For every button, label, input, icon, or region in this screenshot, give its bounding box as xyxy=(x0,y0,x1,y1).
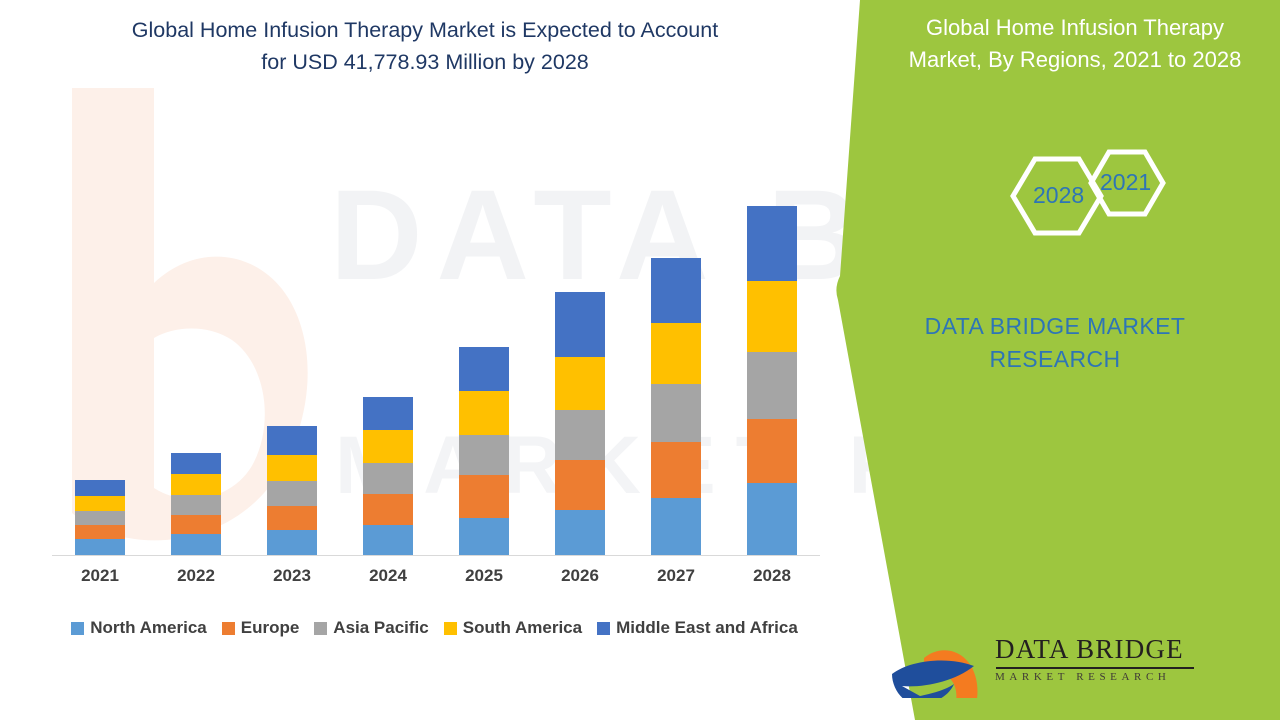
brand-panel-title: Global Home Infusion Therapy Market, By … xyxy=(880,12,1270,76)
legend-item-north-america[interactable]: North America xyxy=(71,618,207,638)
bar-2026[interactable] xyxy=(555,292,605,555)
bar-segment-2023-south-america[interactable] xyxy=(267,455,317,481)
legend-label: North America xyxy=(90,618,207,638)
legend-label: Middle East and Africa xyxy=(616,618,798,638)
bar-segment-2026-north-america[interactable] xyxy=(555,510,605,555)
company-logo: DATA BRIDGE MARKET RESEARCH xyxy=(890,628,1180,700)
legend-label: South America xyxy=(463,618,582,638)
legend-item-south-america[interactable]: South America xyxy=(444,618,582,638)
x-axis-label-2027: 2027 xyxy=(636,566,716,586)
bar-segment-2028-middle-east-and-africa[interactable] xyxy=(747,206,797,281)
bar-segment-2024-europe[interactable] xyxy=(363,494,413,525)
x-axis-label-2022: 2022 xyxy=(156,566,236,586)
bar-segment-2024-middle-east-and-africa[interactable] xyxy=(363,397,413,430)
bar-segment-2023-europe[interactable] xyxy=(267,506,317,530)
bar-segment-2026-europe[interactable] xyxy=(555,460,605,510)
bar-segment-2027-europe[interactable] xyxy=(651,442,701,498)
bar-segment-2022-north-america[interactable] xyxy=(171,534,221,555)
x-axis-labels: 20212022202320242025202620272028 xyxy=(52,566,820,594)
bar-segment-2023-asia-pacific[interactable] xyxy=(267,481,317,506)
bar-segment-2027-asia-pacific[interactable] xyxy=(651,384,701,442)
bar-segment-2023-middle-east-and-africa[interactable] xyxy=(267,426,317,455)
bar-segment-2025-asia-pacific[interactable] xyxy=(459,435,509,475)
bar-segment-2028-europe[interactable] xyxy=(747,419,797,483)
bar-segment-2025-north-america[interactable] xyxy=(459,518,509,555)
legend-swatch-icon xyxy=(222,622,235,635)
bar-segment-2024-asia-pacific[interactable] xyxy=(363,463,413,494)
bar-segment-2026-middle-east-and-africa[interactable] xyxy=(555,292,605,357)
brand-panel: Global Home Infusion Therapy Market, By … xyxy=(820,0,1280,720)
bar-segment-2028-asia-pacific[interactable] xyxy=(747,352,797,419)
bar-segment-2022-middle-east-and-africa[interactable] xyxy=(171,453,221,474)
bar-2021[interactable] xyxy=(75,480,125,555)
hexagon-shapes xyxy=(975,140,1195,270)
bar-segment-2021-north-america[interactable] xyxy=(75,539,125,555)
bar-2023[interactable] xyxy=(267,426,317,555)
bar-2028[interactable] xyxy=(747,206,797,555)
legend-swatch-icon xyxy=(314,622,327,635)
screenshot-root: DATA BRIDGE MARKET RESEARCH Global Home … xyxy=(0,0,1280,720)
x-axis-label-2023: 2023 xyxy=(252,566,332,586)
legend-label: Asia Pacific xyxy=(333,618,428,638)
legend-swatch-icon xyxy=(444,622,457,635)
hexagon-label-2028: 2028 xyxy=(1033,182,1084,209)
page-title: Global Home Infusion Therapy Market is E… xyxy=(40,14,810,79)
bar-segment-2026-asia-pacific[interactable] xyxy=(555,410,605,460)
bar-segment-2028-north-america[interactable] xyxy=(747,483,797,555)
legend-item-europe[interactable]: Europe xyxy=(222,618,300,638)
bar-segment-2022-europe[interactable] xyxy=(171,515,221,534)
bar-segment-2027-north-america[interactable] xyxy=(651,498,701,555)
brand-name: DATA BRIDGE MARKET RESEARCH xyxy=(860,310,1250,375)
bar-segment-2022-south-america[interactable] xyxy=(171,474,221,495)
bar-segment-2023-north-america[interactable] xyxy=(267,530,317,555)
stacked-bar-chart xyxy=(52,100,820,556)
legend-label: Europe xyxy=(241,618,300,638)
bar-segment-2027-south-america[interactable] xyxy=(651,323,701,384)
x-axis-label-2026: 2026 xyxy=(540,566,620,586)
brand-name-line2: RESEARCH xyxy=(989,346,1120,372)
hexagon-label-2021: 2021 xyxy=(1100,169,1151,196)
brand-name-line1: DATA BRIDGE MARKET xyxy=(925,313,1186,339)
chart-plot-area xyxy=(52,100,820,556)
bar-segment-2027-middle-east-and-africa[interactable] xyxy=(651,258,701,323)
legend-item-asia-pacific[interactable]: Asia Pacific xyxy=(314,618,428,638)
chart-legend: North AmericaEuropeAsia PacificSouth Ame… xyxy=(52,616,832,640)
bar-2024[interactable] xyxy=(363,397,413,555)
bar-segment-2021-asia-pacific[interactable] xyxy=(75,511,125,525)
logo-divider xyxy=(996,667,1194,669)
bar-2022[interactable] xyxy=(171,453,221,555)
bar-segment-2026-south-america[interactable] xyxy=(555,357,605,410)
logo-main-text: DATA BRIDGE xyxy=(995,634,1194,665)
bar-2025[interactable] xyxy=(459,347,509,555)
page-title-line1: Global Home Infusion Therapy Market is E… xyxy=(132,18,718,42)
bar-segment-2021-europe[interactable] xyxy=(75,525,125,539)
legend-item-middle-east-and-africa[interactable]: Middle East and Africa xyxy=(597,618,798,638)
legend-swatch-icon xyxy=(597,622,610,635)
logo-mark-icon xyxy=(890,628,985,698)
x-axis-label-2028: 2028 xyxy=(732,566,812,586)
bar-segment-2024-north-america[interactable] xyxy=(363,525,413,555)
bar-segment-2021-middle-east-and-africa[interactable] xyxy=(75,480,125,496)
x-axis-label-2025: 2025 xyxy=(444,566,524,586)
x-axis-label-2024: 2024 xyxy=(348,566,428,586)
x-axis-label-2021: 2021 xyxy=(60,566,140,586)
bar-segment-2025-europe[interactable] xyxy=(459,475,509,518)
x-axis-line xyxy=(52,555,820,556)
logo-sub-text: MARKET RESEARCH xyxy=(995,671,1194,683)
page-title-line2: for USD 41,778.93 Million by 2028 xyxy=(261,50,588,74)
bar-segment-2025-south-america[interactable] xyxy=(459,391,509,435)
brand-panel-title-line2: Market, By Regions, 2021 to 2028 xyxy=(909,47,1242,72)
bar-segment-2028-south-america[interactable] xyxy=(747,281,797,352)
brand-panel-title-line1: Global Home Infusion Therapy xyxy=(926,15,1224,40)
logo-wordmark: DATA BRIDGE MARKET RESEARCH xyxy=(995,634,1194,683)
bar-segment-2025-middle-east-and-africa[interactable] xyxy=(459,347,509,391)
hexagon-group: 2028 2021 xyxy=(975,140,1195,270)
bar-segment-2024-south-america[interactable] xyxy=(363,430,413,463)
bar-segment-2022-asia-pacific[interactable] xyxy=(171,495,221,515)
legend-swatch-icon xyxy=(71,622,84,635)
bar-segment-2021-south-america[interactable] xyxy=(75,496,125,511)
bar-2027[interactable] xyxy=(651,258,701,555)
